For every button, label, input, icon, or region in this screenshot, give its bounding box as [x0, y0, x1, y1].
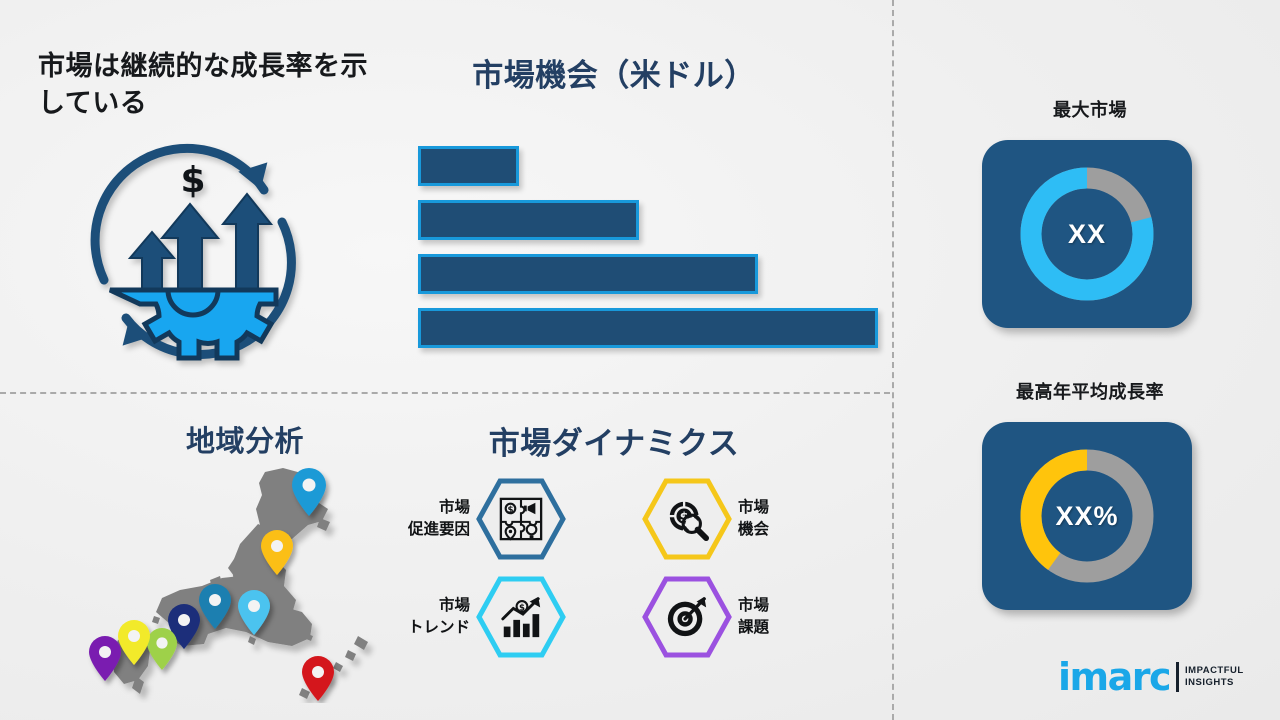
- imarc-logo[interactable]: imarc IMPACTFUL INSIGHTS: [1058, 660, 1244, 695]
- bar-4: [418, 308, 878, 348]
- bar-3: [418, 254, 758, 294]
- dynamics-item-challenges-label: 市場 課題: [738, 595, 769, 640]
- dynamics-item-opportunity-label: 市場 機会: [738, 497, 769, 542]
- opportunity-panel-title: 市場機会（米ドル）: [404, 50, 824, 95]
- dynamics-item-challenges[interactable]: 市場 課題: [642, 576, 769, 658]
- vertical-divider: [892, 0, 894, 720]
- dynamics-hexagon-grid: 市場 促進要因 $: [400, 472, 830, 664]
- growth-icon-currency-symbol: $: [180, 160, 205, 201]
- svg-text:$: $: [519, 603, 525, 613]
- dynamics-panel-title: 市場ダイナミクス: [404, 418, 824, 463]
- dynamics-item-drivers[interactable]: 市場 促進要因 $: [408, 478, 566, 560]
- growth-panel-title: 市場は継続的な成長率を示している: [38, 48, 388, 123]
- pin-chugoku[interactable]: [147, 628, 177, 670]
- highest-cagr-title: 最高年平均成長率: [950, 378, 1230, 404]
- slide-canvas: 市場は継続的な成長率を示している $ 市場機会（米ドル）: [0, 0, 1280, 720]
- largest-market-donut: XX: [1013, 160, 1161, 308]
- bar-row: [418, 308, 878, 348]
- horizontal-divider: [0, 392, 890, 394]
- bar-1: [418, 146, 519, 186]
- target-dart-icon: [664, 594, 710, 640]
- dynamics-item-trends[interactable]: 市場 トレンド $: [408, 576, 566, 658]
- puzzle-pieces-icon: $: [498, 496, 544, 542]
- highest-cagr-value: XX%: [1013, 442, 1161, 590]
- highest-cagr-donut: XX%: [1013, 442, 1161, 590]
- largest-market-title: 最大市場: [960, 96, 1220, 122]
- dollar-magnifier-icon: $: [664, 496, 710, 542]
- opportunity-bar-chart: [418, 146, 878, 350]
- hexagon-frame-drivers: $: [476, 478, 566, 560]
- regional-panel-title: 地域分析: [120, 418, 370, 460]
- hexagon-frame-opportunity: $: [642, 478, 732, 560]
- largest-market-value: XX: [1013, 160, 1161, 308]
- imarc-wordmark: imarc: [1058, 660, 1170, 695]
- dynamics-item-trends-label: 市場 トレンド: [408, 595, 470, 640]
- highest-cagr-card: XX%: [982, 422, 1192, 610]
- dynamics-item-drivers-label: 市場 促進要因: [408, 497, 470, 542]
- logo-divider: [1176, 662, 1179, 692]
- growth-cycle-gear-icon: $: [68, 130, 318, 370]
- bar-row: [418, 200, 878, 240]
- bar-row: [418, 254, 878, 294]
- hexagon-frame-trends: $: [476, 576, 566, 658]
- bar-2: [418, 200, 639, 240]
- bar-row: [418, 146, 878, 186]
- japan-map: [62, 458, 387, 703]
- dynamics-item-opportunity[interactable]: $ 市場 機会: [642, 478, 769, 560]
- svg-text:$: $: [507, 505, 513, 515]
- largest-market-card: XX: [982, 140, 1192, 328]
- bar-chart-growth-icon: $: [498, 594, 544, 640]
- hexagon-frame-challenges: [642, 576, 732, 658]
- imarc-tagline: IMPACTFUL INSIGHTS: [1185, 665, 1244, 691]
